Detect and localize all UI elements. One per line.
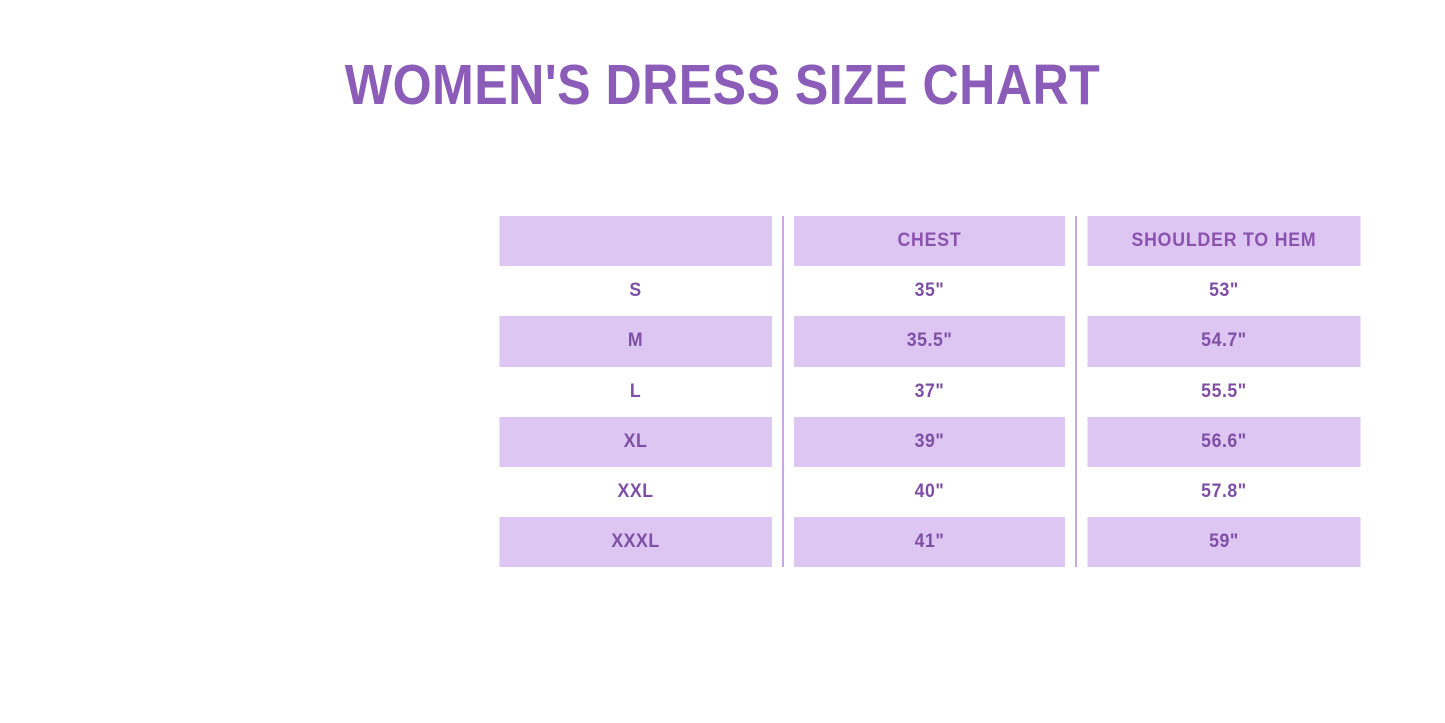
cell-chest: 40" — [793, 467, 1065, 517]
column-header-chest: CHEST — [793, 216, 1065, 266]
column-header-shoulder-to-hem: SHOULDER TO HEM — [1086, 216, 1360, 266]
table-row: S 35" 53" — [489, 266, 1371, 316]
cell-shoulder-to-hem: 59" — [1086, 517, 1360, 567]
cell-chest: 41" — [793, 517, 1065, 567]
table-header-row: CHEST SHOULDER TO HEM — [489, 216, 1371, 266]
cell-size: XL — [499, 417, 772, 467]
cell-chest: 35" — [793, 266, 1065, 316]
cell-size: L — [499, 367, 772, 417]
size-chart-table-container: CHEST SHOULDER TO HEM S 35" 53" M 35.5" … — [489, 216, 1371, 567]
page-title: WOMEN'S DRESS SIZE CHART — [87, 52, 1359, 118]
cell-size: XXL — [499, 467, 772, 517]
column-header-size — [499, 216, 772, 266]
table-header: CHEST SHOULDER TO HEM — [489, 216, 1371, 266]
table-row: M 35.5" 54.7" — [489, 316, 1371, 366]
cell-size: M — [499, 316, 772, 366]
cell-shoulder-to-hem: 55.5" — [1086, 367, 1360, 417]
table-row: XL 39" 56.6" — [489, 417, 1371, 467]
size-chart-table: CHEST SHOULDER TO HEM S 35" 53" M 35.5" … — [489, 216, 1371, 567]
cell-chest: 39" — [793, 417, 1065, 467]
table-row: XXXL 41" 59" — [489, 517, 1371, 567]
cell-size: S — [499, 266, 772, 316]
table-body: S 35" 53" M 35.5" 54.7" L 37" 55.5" XL 3… — [489, 266, 1371, 567]
cell-shoulder-to-hem: 57.8" — [1086, 467, 1360, 517]
cell-shoulder-to-hem: 56.6" — [1086, 417, 1360, 467]
cell-chest: 37" — [793, 367, 1065, 417]
cell-shoulder-to-hem: 54.7" — [1086, 316, 1360, 366]
table-row: XXL 40" 57.8" — [489, 467, 1371, 517]
cell-size: XXXL — [499, 517, 772, 567]
cell-shoulder-to-hem: 53" — [1086, 266, 1360, 316]
cell-chest: 35.5" — [793, 316, 1065, 366]
table-row: L 37" 55.5" — [489, 367, 1371, 417]
